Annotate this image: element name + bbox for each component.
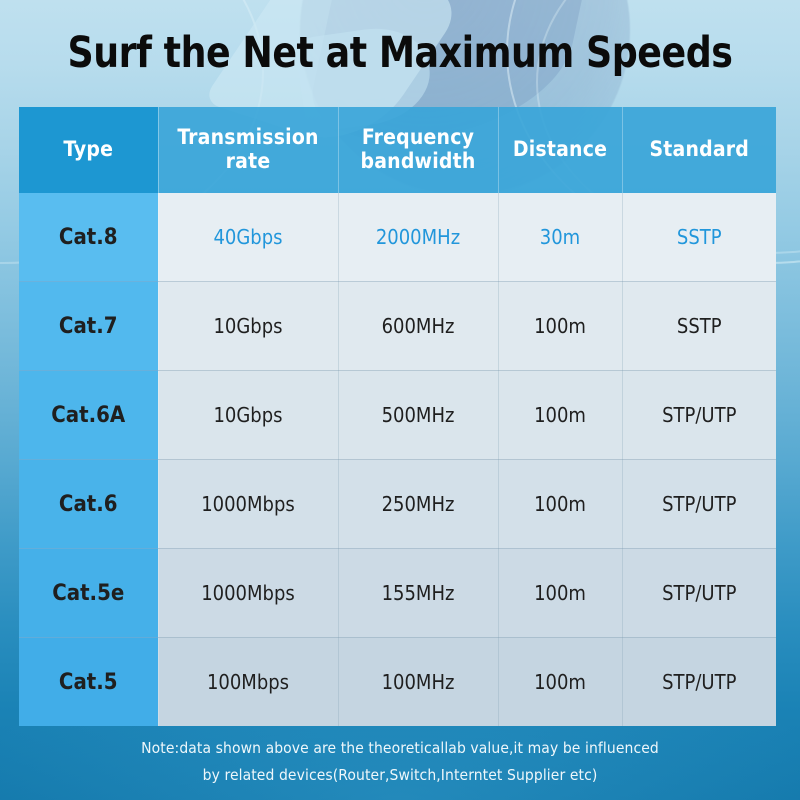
cell-standard: SSTP (622, 193, 776, 282)
cell-distance: 100m (498, 282, 622, 371)
cell-transmission-rate: 1000Mbps (158, 549, 338, 638)
cell-frequency-bandwidth: 2000MHz (338, 193, 498, 282)
column-header-type: Type (19, 107, 158, 193)
column-header-standard-line1: Standard (623, 138, 777, 162)
column-header-standard: Standard (622, 107, 776, 193)
cell-type: Cat.5e (19, 549, 158, 638)
table-row: Cat.6A 10Gbps 500MHz 100m STP/UTP (19, 371, 776, 460)
column-header-distance-line1: Distance (499, 138, 622, 162)
cell-frequency-bandwidth: 500MHz (338, 371, 498, 460)
column-header-distance: Distance (498, 107, 622, 193)
disclaimer-note-line2: by related devices(Router,Switch,Internt… (0, 762, 800, 789)
disclaimer-note-line1: Note:data shown above are the theoretica… (0, 735, 800, 762)
table-row: Cat.5e 1000Mbps 155MHz 100m STP/UTP (19, 549, 776, 638)
cell-standard: SSTP (622, 282, 776, 371)
cell-distance: 30m (498, 193, 622, 282)
column-header-transmission-rate-line2: rate (159, 150, 338, 174)
cell-type: Cat.7 (19, 282, 158, 371)
cell-type: Cat.6A (19, 371, 158, 460)
cell-frequency-bandwidth: 155MHz (338, 549, 498, 638)
cell-transmission-rate: 10Gbps (158, 282, 338, 371)
table-row: Cat.7 10Gbps 600MHz 100m SSTP (19, 282, 776, 371)
cell-standard: STP/UTP (622, 460, 776, 549)
table-row: Cat.8 40Gbps 2000MHz 30m SSTP (19, 193, 776, 282)
cell-distance: 100m (498, 371, 622, 460)
page-title: Surf the Net at Maximum Speeds (24, 28, 776, 78)
cell-transmission-rate: 10Gbps (158, 371, 338, 460)
cell-transmission-rate: 40Gbps (158, 193, 338, 282)
cell-frequency-bandwidth: 250MHz (338, 460, 498, 549)
column-header-transmission-rate-line1: Transmission (159, 126, 338, 150)
table-body: Cat.8 40Gbps 2000MHz 30m SSTP Cat.7 10Gb… (19, 193, 776, 726)
cell-frequency-bandwidth: 100MHz (338, 638, 498, 727)
cell-transmission-rate: 1000Mbps (158, 460, 338, 549)
column-header-frequency-bandwidth-line1: Frequency (339, 126, 498, 150)
ethernet-category-spec-table: Type Transmission rate Frequency bandwid… (19, 107, 776, 726)
cell-distance: 100m (498, 638, 622, 727)
column-header-frequency-bandwidth-line2: bandwidth (339, 150, 498, 174)
column-header-type-line1: Type (19, 138, 158, 162)
spec-table-container: Type Transmission rate Frequency bandwid… (19, 107, 776, 718)
column-header-transmission-rate: Transmission rate (158, 107, 338, 193)
cell-standard: STP/UTP (622, 549, 776, 638)
cell-type: Cat.5 (19, 638, 158, 727)
cell-standard: STP/UTP (622, 638, 776, 727)
cell-transmission-rate: 100Mbps (158, 638, 338, 727)
cell-distance: 100m (498, 549, 622, 638)
table-row: Cat.6 1000Mbps 250MHz 100m STP/UTP (19, 460, 776, 549)
cell-frequency-bandwidth: 600MHz (338, 282, 498, 371)
cell-standard: STP/UTP (622, 371, 776, 460)
poster-root: Surf the Net at Maximum Speeds Type Tran… (0, 0, 800, 800)
cell-type: Cat.8 (19, 193, 158, 282)
table-header-row: Type Transmission rate Frequency bandwid… (19, 107, 776, 193)
column-header-frequency-bandwidth: Frequency bandwidth (338, 107, 498, 193)
disclaimer-note: Note:data shown above are the theoretica… (0, 735, 800, 789)
cell-distance: 100m (498, 460, 622, 549)
table-header: Type Transmission rate Frequency bandwid… (19, 107, 776, 193)
cell-type: Cat.6 (19, 460, 158, 549)
table-row: Cat.5 100Mbps 100MHz 100m STP/UTP (19, 638, 776, 727)
